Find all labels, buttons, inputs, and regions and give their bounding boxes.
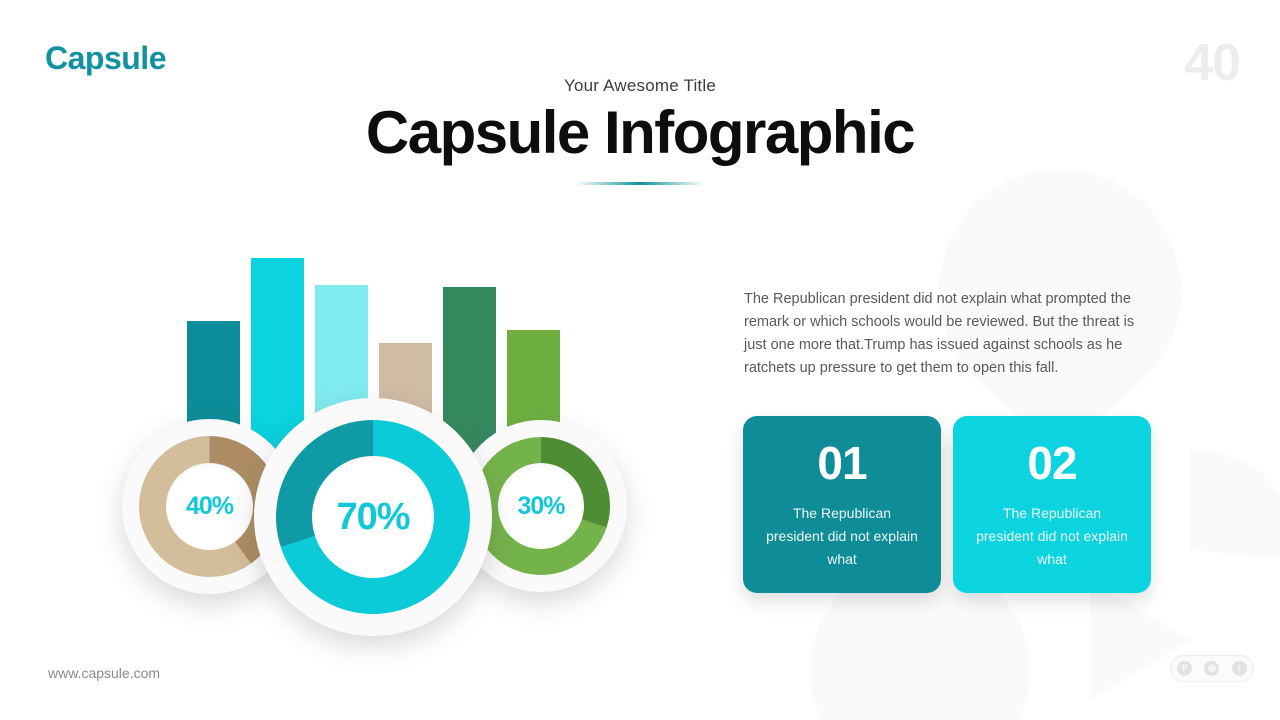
donut-label-40: 40% (186, 492, 233, 521)
card-text: The Republican president did not explain… (953, 502, 1151, 571)
pinterest-icon[interactable]: P (1177, 661, 1192, 676)
donut-chart-70[interactable]: 70% (254, 398, 492, 636)
card-02[interactable]: 02 The Republican president did not expl… (953, 416, 1151, 593)
bar-chart (0, 0, 640, 460)
card-01[interactable]: 01 The Republican president did not expl… (743, 416, 941, 593)
donut-label-70: 70% (336, 496, 409, 539)
body-paragraph: The Republican president did not explain… (744, 288, 1156, 380)
donut-center: 30% (498, 463, 584, 549)
tumblr-icon[interactable]: t (1232, 661, 1247, 676)
social-bar: P ◉ t (1170, 655, 1254, 682)
instagram-icon[interactable]: ◉ (1204, 661, 1219, 676)
donut-center: 70% (312, 456, 434, 578)
card-number: 01 (743, 440, 941, 486)
donut-label-30: 30% (517, 492, 564, 521)
card-text: The Republican president did not explain… (743, 502, 941, 571)
donut-center: 40% (166, 463, 253, 550)
footer-url[interactable]: www.capsule.com (48, 665, 160, 681)
card-number: 02 (953, 440, 1151, 486)
